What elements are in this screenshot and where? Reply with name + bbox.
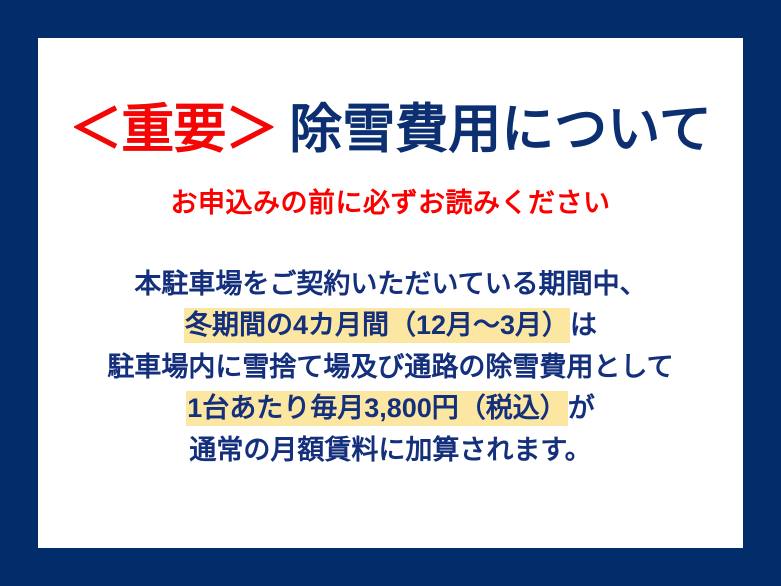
body-line-1: 本駐車場をご契約いただいている期間中、 xyxy=(134,267,646,302)
body-line-3-text: 駐車場内に雪捨て場及び通路の除雪費用として xyxy=(107,352,673,382)
body-line-3: 駐車場内に雪捨て場及び通路の除雪費用として xyxy=(107,350,673,385)
body-line-5-text: 通常の月額賃料に加算されます。 xyxy=(189,435,591,465)
body-line-2-trailing: は xyxy=(570,310,597,340)
body-line-4: 1台あたり毎月3,800円（税込）が xyxy=(186,391,595,426)
notice-panel: ＜重要＞除雪費用について お申込みの前に必ずお読みください 本駐車場をご契約いた… xyxy=(38,38,743,548)
page-title: ＜重要＞除雪費用について xyxy=(69,101,711,158)
notice-body: 本駐車場をご契約いただいている期間中、 冬期間の4カ月間（12月～3月）は 駐車… xyxy=(107,267,673,468)
body-line-5: 通常の月額賃料に加算されます。 xyxy=(189,433,591,468)
title-main-text: 除雪費用について xyxy=(289,100,711,159)
body-line-4-highlight: 1台あたり毎月3,800円（税込） xyxy=(186,391,568,426)
body-line-2: 冬期間の4カ月間（12月～3月）は xyxy=(184,308,597,343)
body-line-2-highlight: 冬期間の4カ月間（12月～3月） xyxy=(184,308,570,343)
important-tag: ＜重要＞ xyxy=(69,100,277,159)
body-line-1-text: 本駐車場をご契約いただいている期間中、 xyxy=(134,269,646,299)
snow-removal-fee-notice-poster: ＜重要＞除雪費用について お申込みの前に必ずお読みください 本駐車場をご契約いた… xyxy=(0,0,781,586)
body-line-4-trailing: が xyxy=(568,393,595,423)
subtitle-read-before-applying: お申込みの前に必ずお読みください xyxy=(171,187,611,219)
